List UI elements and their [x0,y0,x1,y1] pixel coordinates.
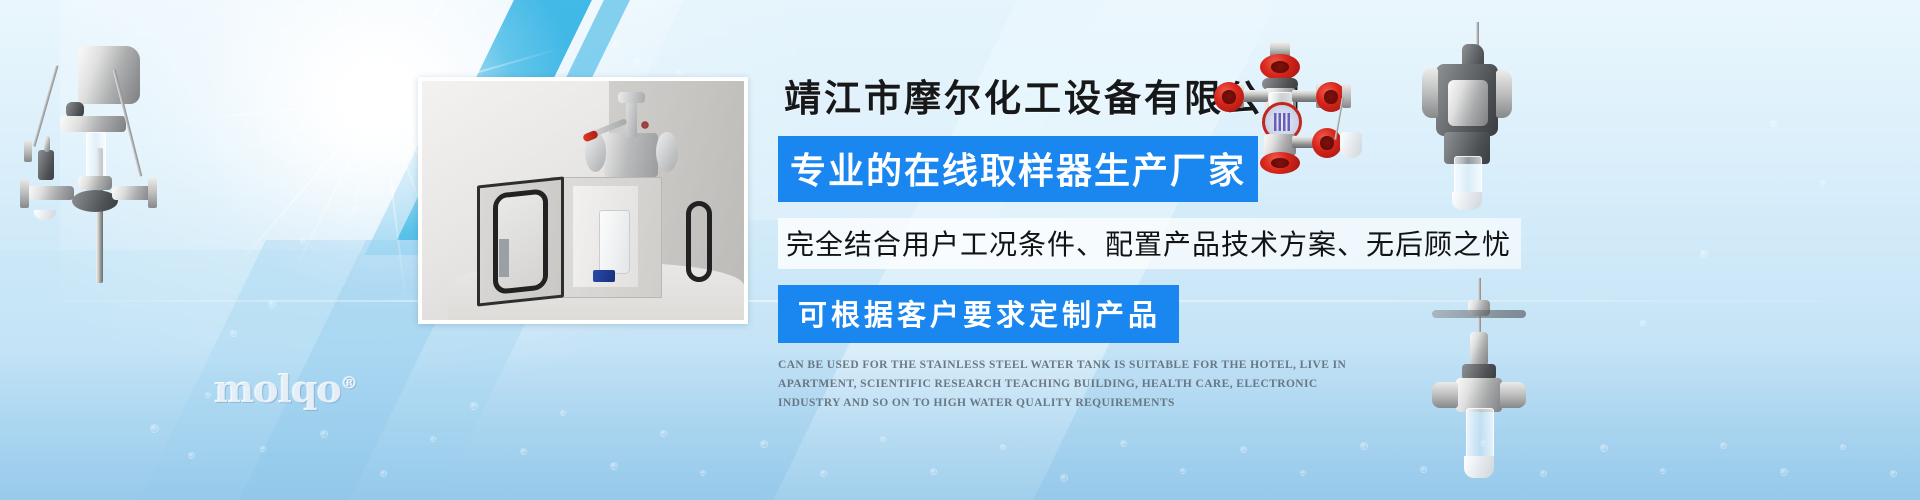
water-droplet-icon [1300,470,1306,476]
equipment-right-valve [1414,22,1554,222]
water-droplet-icon [430,436,436,442]
registered-mark-icon: ® [341,373,358,393]
water-droplet-icon [1120,440,1127,447]
headline-highlight: 专业的在线取样器生产厂家 [778,136,1258,202]
water-droplet-icon [1600,444,1608,452]
water-droplet-icon [150,424,159,433]
water-droplet-icon [1700,250,1708,258]
water-droplet-icon [1840,444,1846,450]
water-droplet-icon [634,58,641,65]
water-droplet-icon [1180,468,1186,474]
water-droplet-icon [930,468,937,475]
water-droplet-icon [1820,180,1826,186]
water-droplet-icon [1720,442,1727,449]
water-droplet-icon [352,206,359,213]
product-photo [418,77,748,324]
water-droplet-icon [1770,120,1777,127]
water-droplet-icon [188,452,195,459]
water-droplet-icon [1660,468,1666,474]
water-droplet-icon [1890,470,1897,477]
equipment-cross-valve [1212,36,1382,166]
water-droplet-icon [1640,320,1646,326]
water-droplet-icon [660,430,667,437]
water-droplet-icon [520,448,527,455]
water-droplet-icon [1060,474,1068,482]
water-droplet-icon [880,436,886,442]
sub-headline: 完全结合用户工况条件、配置产品技术方案、无后顾之忧 [778,218,1521,269]
water-droplet-icon [760,440,768,448]
water-droplet-icon [700,470,706,476]
water-droplet-icon [820,470,827,477]
equipment-lower-right-valve [1418,278,1548,490]
brand-logo-text: molqo [214,366,341,411]
water-droplet-icon [205,392,211,398]
equipment-left-assembly [8,28,198,283]
water-droplet-icon [1000,444,1006,450]
water-droplet-icon [230,330,237,337]
water-droplet-icon [330,150,340,160]
water-droplet-icon [300,238,306,244]
water-droplet-icon [1780,468,1788,476]
promotional-banner: 靖江市摩尔化工设备有限公司 专业的在线取样器生产厂家 完全结合用户工况条件、配置… [0,0,1920,500]
tagline-highlight: 可根据客户要求定制产品 [778,285,1179,343]
water-droplet-icon [1360,442,1368,450]
water-droplet-icon [470,402,478,410]
water-droplet-icon [260,446,266,452]
water-droplet-icon [380,470,387,477]
water-droplet-icon [610,462,618,470]
brand-logo: molqo® [214,366,358,411]
water-droplet-icon [1240,446,1247,453]
english-description: CAN BE USED FOR THE STAINLESS STEEL WATE… [778,356,1378,413]
water-droplet-icon [560,410,566,416]
water-droplet-icon [320,430,328,438]
water-droplet-icon [612,40,621,49]
water-droplet-icon [676,70,682,76]
water-droplet-icon [268,300,276,308]
